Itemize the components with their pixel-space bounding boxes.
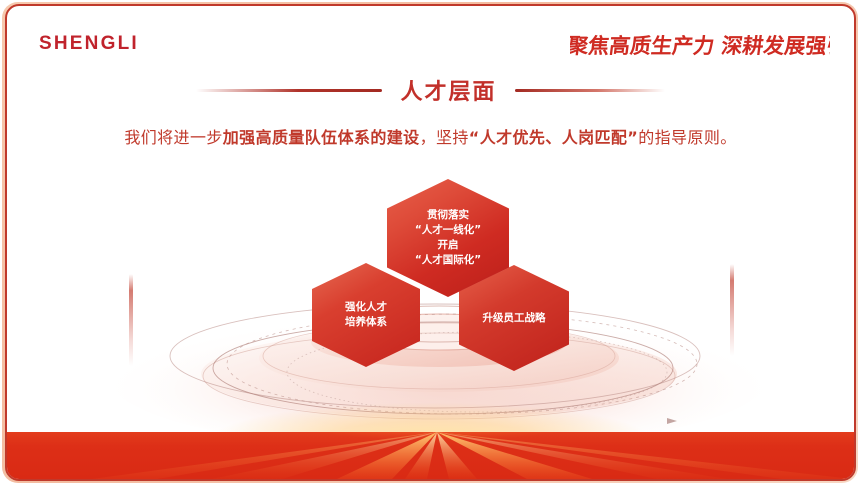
lead-emphasis-1: 加强高质量队伍体系的建设 <box>223 128 420 147</box>
hexagon-right-line-1: 升级员工战略 <box>483 311 546 326</box>
hexagon-top-text: 贯彻落实 “人才一线化” 开启 “人才国际化” <box>415 208 481 268</box>
calligraphy-banner: 聚焦高质生产力 深耕发展强引擎 <box>570 24 830 66</box>
hexagon-left-line-1: 强化人才 <box>345 300 387 315</box>
hexagon-left-line-2: 培养体系 <box>345 315 387 330</box>
slide-frame-inner: SHENGLI 聚焦高质生产力 深耕发展强引擎 人才层面 我们将进一步加强高质量… <box>5 4 856 481</box>
title-rule-right <box>515 89 665 92</box>
brand-logo: SHENGLI <box>39 33 139 55</box>
lead-paragraph: 我们将进一步加强高质量队伍体系的建设，坚持“人才优先、人岗匹配”的指导原则。 <box>7 124 854 148</box>
hexagon-right-text: 升级员工战略 <box>483 311 546 326</box>
hexagon-left-text: 强化人才 培养体系 <box>345 300 387 330</box>
bottom-bar <box>7 432 854 479</box>
slide-canvas: SHENGLI 聚焦高质生产力 深耕发展强引擎 人才层面 我们将进一步加强高质量… <box>0 0 860 485</box>
lead-part-3: 的指导原则。 <box>638 128 736 147</box>
lead-part-2: ，坚持 <box>420 128 469 147</box>
hexagon-top-line-3: 开启 <box>415 238 481 253</box>
hexagon-top-line-4: “人才国际化” <box>415 253 481 268</box>
lead-emphasis-2: “人才优先、人岗匹配” <box>469 128 638 147</box>
calligraphy-text: 聚焦高质生产力 深耕发展强引擎 <box>570 33 830 58</box>
title-rule-left <box>196 89 382 92</box>
hexagon-top-line-2: “人才一线化” <box>415 223 481 238</box>
lead-part-1: 我们将进一步 <box>124 128 222 147</box>
hexagon-top-line-1: 贯彻落实 <box>415 208 481 223</box>
section-title-row: 人才层面 <box>7 74 854 106</box>
page-title: 人才层面 <box>400 74 496 106</box>
